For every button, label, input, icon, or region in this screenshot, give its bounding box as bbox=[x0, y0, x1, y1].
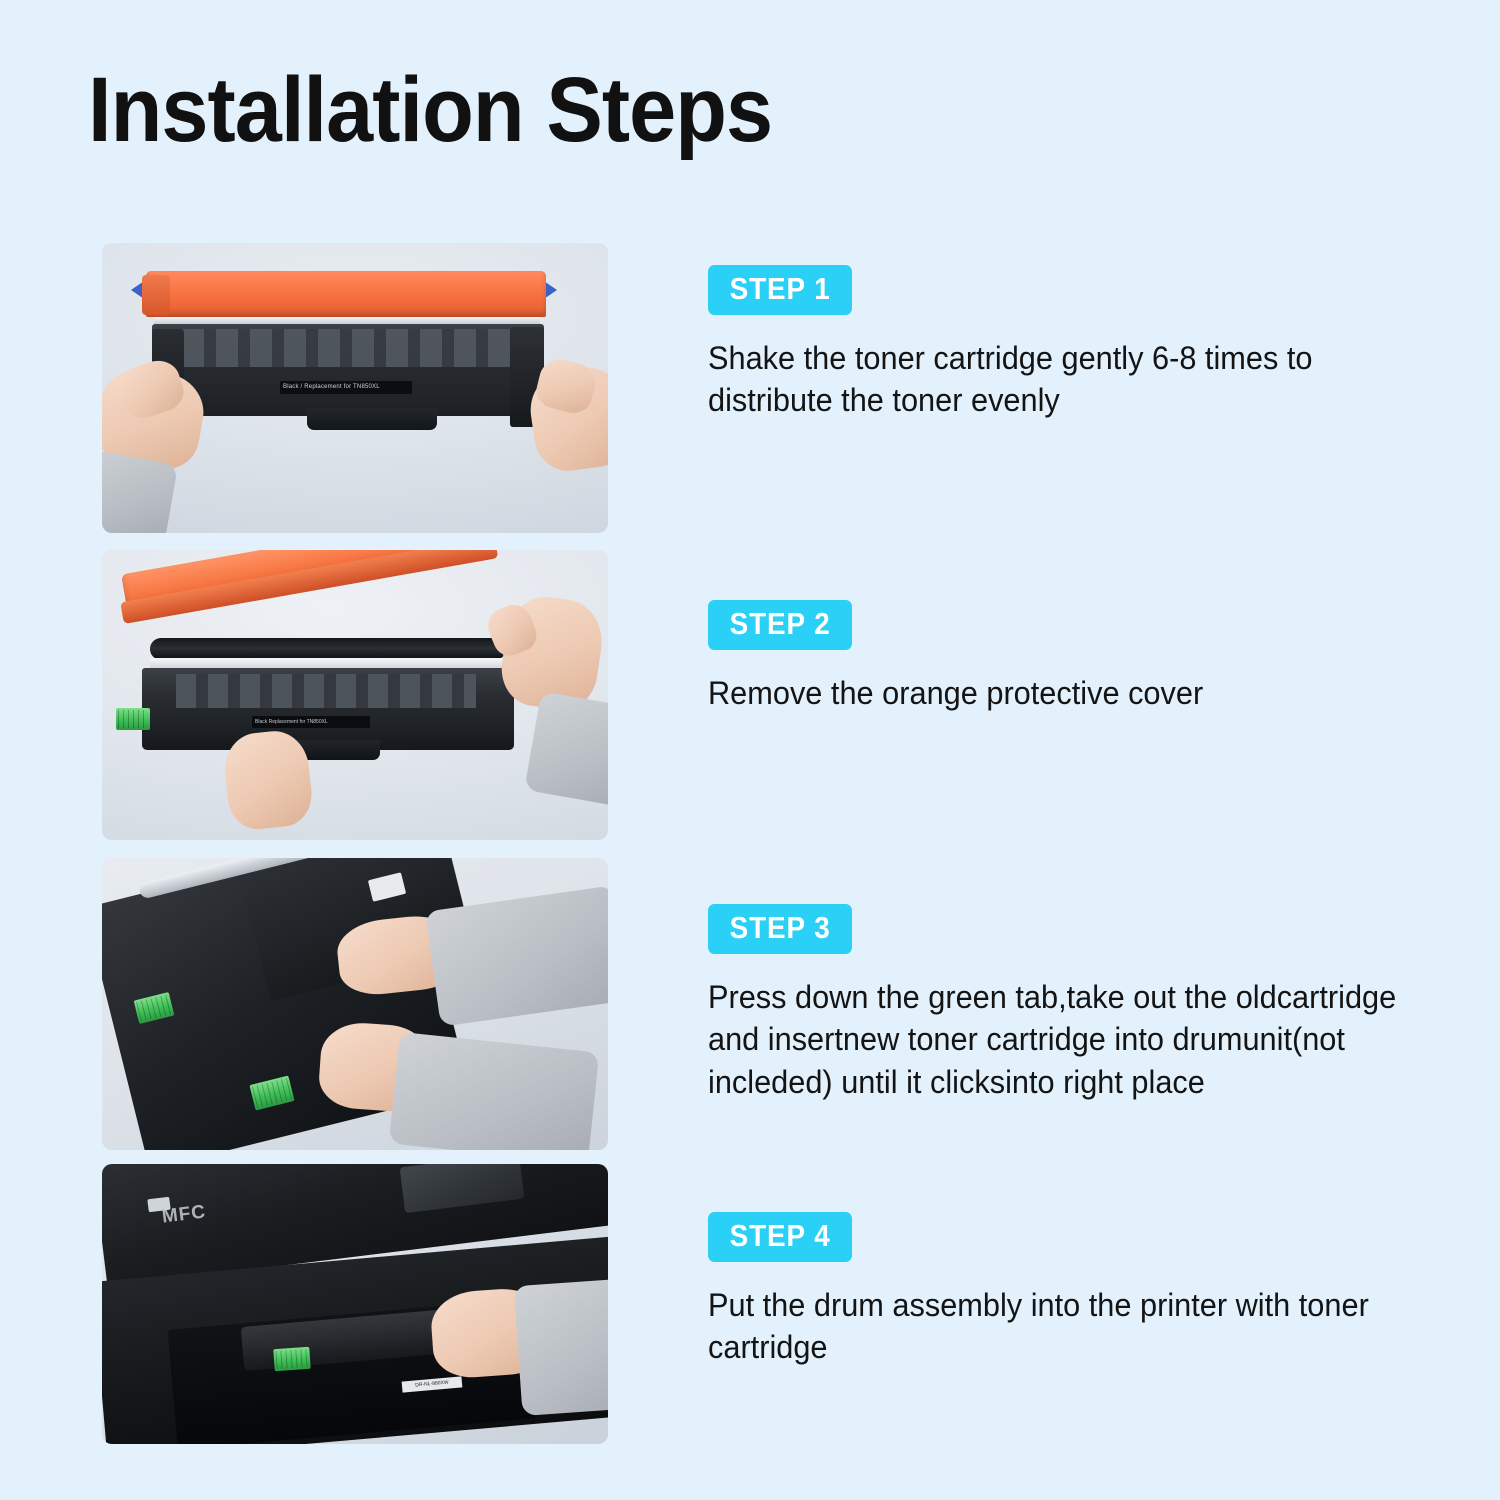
step-3-text: STEP 3 Press down the green tab,take out… bbox=[708, 904, 1448, 1103]
cartridge-model-label: Black / Replacement for TN850XL bbox=[280, 381, 412, 394]
step-2-description: Remove the orange protective cover bbox=[708, 672, 1418, 715]
cartridge-handle bbox=[307, 408, 437, 430]
step-2-photo: Black Replacement for TN850XL bbox=[102, 550, 608, 840]
step-4-description: Put the drum assembly into the printer w… bbox=[708, 1284, 1418, 1369]
green-tab bbox=[273, 1347, 310, 1371]
drum-roller bbox=[150, 638, 506, 660]
white-seal-strip bbox=[150, 658, 502, 668]
step-4-photo: MFC DR-NL-880XW bbox=[102, 1164, 608, 1444]
step-1-text: STEP 1 Shake the toner cartridge gently … bbox=[708, 265, 1448, 422]
cartridge-ribs bbox=[182, 329, 512, 367]
cartridge-ribs bbox=[176, 674, 476, 708]
step-4-badge: STEP 4 bbox=[708, 1212, 852, 1262]
step-3-description: Press down the green tab,take out the ol… bbox=[708, 976, 1418, 1104]
step-3-badge: STEP 3 bbox=[708, 904, 852, 954]
step-4-text: STEP 4 Put the drum assembly into the pr… bbox=[708, 1212, 1448, 1369]
sleeve-right bbox=[514, 1278, 608, 1416]
installation-steps-list: Black / Replacement for TN850XL STEP 1 S… bbox=[0, 0, 1500, 1500]
step-row-1: Black / Replacement for TN850XL STEP 1 S… bbox=[0, 243, 1500, 533]
step-row-3: STEP 3 Press down the green tab,take out… bbox=[0, 858, 1500, 1150]
step-2-badge: STEP 2 bbox=[708, 600, 852, 650]
cartridge-slot bbox=[154, 317, 540, 324]
orange-protective-cover bbox=[146, 271, 546, 317]
step-row-2: Black Replacement for TN850XL STEP 2 Rem… bbox=[0, 550, 1500, 840]
orange-cover-lip bbox=[142, 275, 170, 315]
step-3-photo bbox=[102, 858, 608, 1150]
step-2-text: STEP 2 Remove the orange protective cove… bbox=[708, 600, 1448, 714]
green-chip bbox=[116, 708, 150, 730]
step-row-4: MFC DR-NL-880XW STEP 4 Put the drum asse… bbox=[0, 1164, 1500, 1444]
step-1-badge: STEP 1 bbox=[708, 265, 852, 315]
cartridge-model-label: Black Replacement for TN850XL bbox=[252, 716, 370, 728]
sleeve-lower bbox=[389, 1032, 600, 1150]
step-1-description: Shake the toner cartridge gently 6-8 tim… bbox=[708, 337, 1418, 422]
step-1-photo: Black / Replacement for TN850XL bbox=[102, 243, 608, 533]
